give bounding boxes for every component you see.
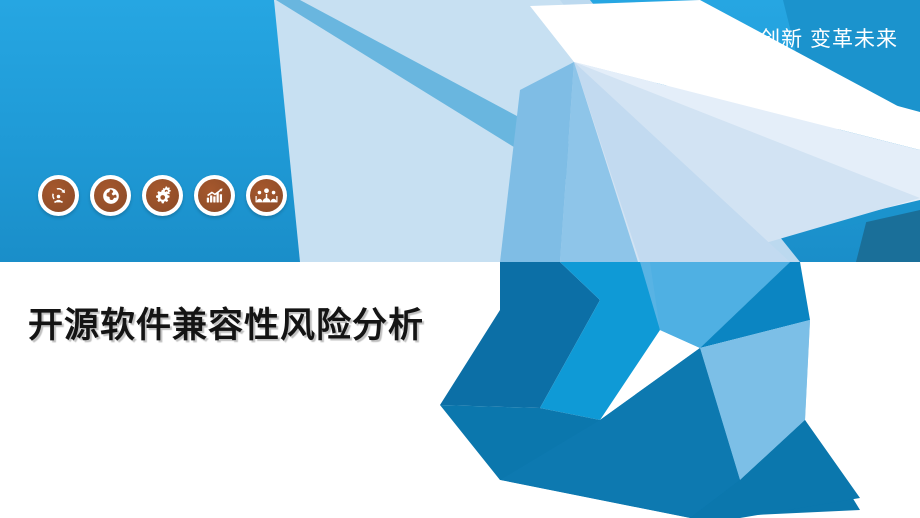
tagline: 数智创新 变革未来 bbox=[715, 27, 898, 52]
page-title: 开源软件兼容性风险分析 bbox=[28, 297, 424, 348]
icon-badge-3[interactable] bbox=[142, 175, 183, 216]
globe-icon bbox=[94, 179, 127, 212]
recycle-people-icon bbox=[42, 179, 75, 212]
icon-badge-4[interactable] bbox=[194, 175, 235, 216]
icon-row bbox=[38, 175, 287, 216]
title-slide: 数智创新 变革未来 bbox=[0, 0, 920, 518]
team-people-icon bbox=[250, 179, 283, 212]
background-artwork bbox=[0, 0, 920, 518]
icon-badge-5[interactable] bbox=[246, 175, 287, 216]
icon-badge-2[interactable] bbox=[90, 175, 131, 216]
bar-chart-growth-icon bbox=[198, 179, 231, 212]
icon-badge-1[interactable] bbox=[38, 175, 79, 216]
gears-icon bbox=[146, 179, 179, 212]
